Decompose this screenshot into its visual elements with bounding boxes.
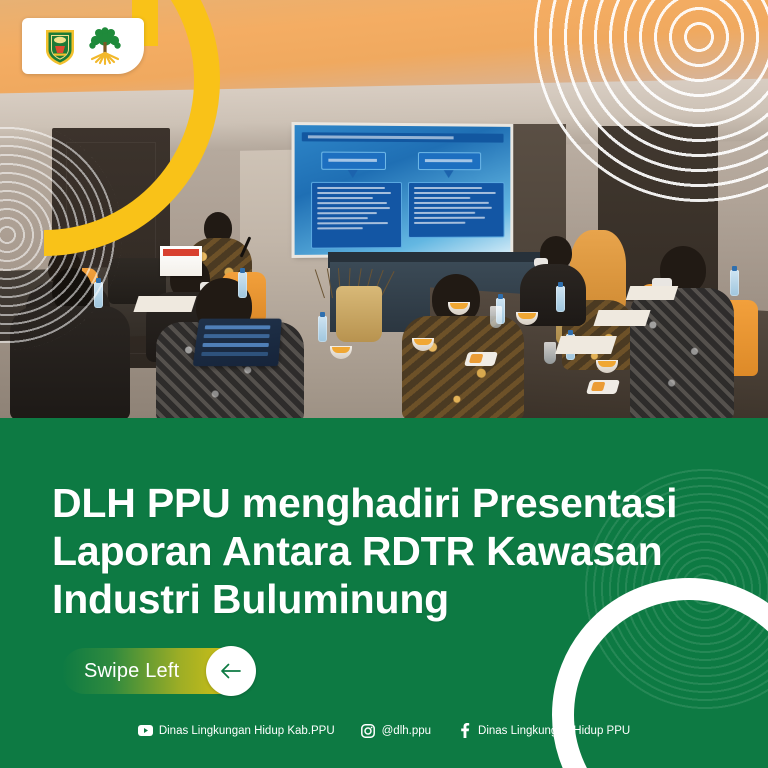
footer-item-instagram[interactable]: @dlh.ppu	[361, 723, 431, 738]
slide-arrow-right-icon	[444, 170, 454, 178]
water-bottle	[556, 286, 565, 312]
document-paper	[593, 310, 650, 326]
snack-plate	[464, 352, 498, 366]
water-bottle	[318, 316, 327, 342]
swipe-left-label: Swipe Left	[84, 660, 179, 683]
slide-header-left	[321, 152, 386, 170]
headline-line-1: DLH PPU menghadiri Presentasi	[52, 480, 722, 528]
headline-line-3: Industri Buluminung	[52, 576, 722, 624]
document-paper	[555, 336, 617, 354]
page-title: DLH PPU menghadiri Presentasi Laporan An…	[52, 480, 722, 624]
headline-line-2: Laporan Antara RDTR Kawasan	[52, 528, 722, 576]
social-post-canvas: DLH PPU menghadiri Presentasi Laporan An…	[0, 0, 768, 768]
laptop	[193, 319, 282, 367]
slide-arrow-left-icon	[348, 170, 358, 178]
slide-title-bar	[302, 132, 504, 142]
slide-box-right	[408, 182, 505, 238]
facebook-icon	[457, 723, 472, 738]
drinking-glass	[490, 306, 502, 328]
swipe-left-button[interactable]: Swipe Left	[62, 648, 254, 694]
footer-label-youtube: Dinas Lingkungan Hidup Kab.PPU	[159, 725, 335, 737]
footer-label-instagram: @dlh.ppu	[382, 725, 431, 737]
footer-item-youtube[interactable]: Dinas Lingkungan Hidup Kab.PPU	[138, 723, 335, 738]
footer-item-facebook[interactable]: Dinas Lingkungan Hidup PPU	[457, 723, 630, 738]
social-footer: Dinas Lingkungan Hidup Kab.PPU @dlh.ppu …	[0, 723, 768, 738]
meeting-photo	[0, 0, 768, 420]
slide-box-left	[311, 182, 402, 249]
logo-badge	[22, 18, 144, 74]
water-bottle	[730, 270, 739, 296]
dlh-tree-logo-icon	[86, 26, 124, 66]
projection-screen	[295, 125, 511, 255]
document-paper	[626, 286, 679, 300]
water-bottle	[238, 272, 247, 298]
youtube-icon	[138, 723, 153, 738]
footer-label-facebook: Dinas Lingkungan Hidup PPU	[478, 725, 630, 737]
arrow-left-glyph	[219, 662, 243, 680]
kabupaten-ppu-emblem-icon	[43, 26, 77, 66]
table-poster	[160, 246, 202, 276]
document-paper	[133, 296, 196, 312]
arrow-left-icon[interactable]	[206, 646, 256, 696]
slide-header-right	[418, 152, 481, 170]
centerpiece-vase	[336, 286, 382, 342]
snack-plate	[586, 380, 620, 394]
green-content-panel: DLH PPU menghadiri Presentasi Laporan An…	[0, 418, 768, 768]
instagram-icon	[361, 723, 376, 738]
